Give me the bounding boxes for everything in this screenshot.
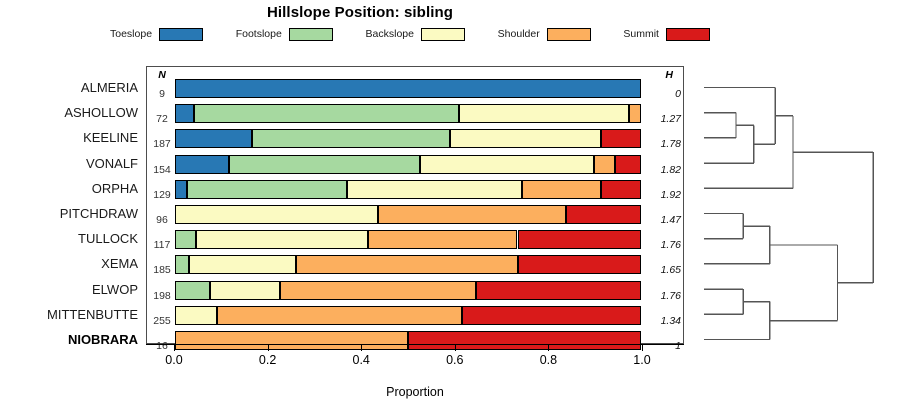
n-value: 96: [149, 214, 175, 226]
bar-segment-toeslope[interactable]: [175, 180, 187, 199]
category-label-keeline: KEELINE: [83, 131, 138, 145]
n-value: 154: [149, 164, 175, 176]
h-value: 1.82: [645, 164, 681, 176]
legend-item-label: Backslope: [366, 28, 414, 40]
bar-segment-toeslope[interactable]: [175, 104, 194, 123]
stacked-bar[interactable]: [175, 230, 641, 249]
stacked-bar[interactable]: [175, 79, 641, 98]
x-axis-tick-label: 0.4: [352, 353, 369, 367]
x-axis-tick-label: 1.0: [633, 353, 650, 367]
h-value: 1.78: [645, 138, 681, 150]
x-axis-tick: [455, 344, 456, 351]
bar-segment-footslope[interactable]: [229, 155, 420, 174]
dendrogram: [690, 60, 900, 350]
x-axis-line: [146, 344, 684, 345]
n-value: 72: [149, 113, 175, 125]
bar-segment-shoulder[interactable]: [217, 306, 462, 325]
bar-segment-footslope[interactable]: [175, 281, 210, 300]
n-value: 255: [149, 315, 175, 327]
bar-segment-toeslope[interactable]: [175, 129, 252, 148]
category-label-pitchdraw: PITCHDRAW: [60, 207, 138, 221]
h-value: 1.76: [645, 239, 681, 251]
x-axis: 0.00.20.40.60.81.0: [146, 344, 684, 378]
stacked-bar[interactable]: [175, 306, 641, 325]
bar-segment-backslope[interactable]: [175, 205, 378, 224]
bar-segment-backslope[interactable]: [347, 180, 522, 199]
stacked-bar[interactable]: [175, 155, 641, 174]
stacked-bar[interactable]: [175, 281, 641, 300]
x-axis-tick: [548, 344, 549, 351]
h-value: 1.65: [645, 264, 681, 276]
h-value: 1.47: [645, 214, 681, 226]
h-value: 0: [645, 88, 681, 100]
bar-segment-summit[interactable]: [518, 255, 641, 274]
bar-segment-summit[interactable]: [615, 155, 641, 174]
stacked-bar[interactable]: [175, 180, 641, 199]
h-column-header: H: [665, 69, 673, 81]
plot-panel: N H 90721.271871.781541.821291.92961.471…: [146, 66, 684, 344]
category-label-almeria: ALMERIA: [81, 81, 138, 95]
stacked-bar[interactable]: [175, 104, 641, 123]
h-value: 1.92: [645, 189, 681, 201]
x-axis-tick: [268, 344, 269, 351]
bar-segment-backslope[interactable]: [450, 129, 601, 148]
n-value: 117: [149, 239, 175, 251]
legend-item-label: Summit: [623, 28, 659, 40]
category-label-column: ALMERIAASHOLLOWKEELINEVONALFORPHAPITCHDR…: [0, 66, 142, 344]
dendrogram-svg: [690, 60, 900, 350]
x-axis-tick: [642, 344, 643, 351]
bar-segment-summit[interactable]: [518, 230, 641, 249]
stacked-bar[interactable]: [175, 255, 641, 274]
n-column-header: N: [149, 69, 175, 81]
legend-item-label: Footslope: [236, 28, 282, 40]
legend-swatch-icon: [159, 28, 203, 41]
category-label-elwop: ELWOP: [92, 283, 138, 297]
bar-segment-footslope[interactable]: [252, 129, 450, 148]
x-axis-tick-label: 0.6: [446, 353, 463, 367]
bar-segment-summit[interactable]: [476, 281, 641, 300]
bar-segment-toeslope[interactable]: [175, 79, 641, 98]
category-label-tullock: TULLOCK: [78, 232, 138, 246]
category-label-ashollow: ASHOLLOW: [64, 106, 138, 120]
bar-segment-summit[interactable]: [601, 180, 641, 199]
bar-segment-backslope[interactable]: [196, 230, 368, 249]
x-axis-tick: [174, 344, 175, 351]
legend-swatch-icon: [289, 28, 333, 41]
bar-segment-shoulder[interactable]: [594, 155, 615, 174]
h-value: 1.27: [645, 113, 681, 125]
h-value: 1.76: [645, 290, 681, 302]
x-axis-tick-label: 0.2: [259, 353, 276, 367]
bar-segment-backslope[interactable]: [189, 255, 296, 274]
legend-item-toeslope[interactable]: Toeslope: [110, 28, 203, 41]
n-value: 9: [149, 88, 175, 100]
n-value: 185: [149, 264, 175, 276]
legend-item-shoulder[interactable]: Shoulder: [498, 28, 591, 41]
legend-swatch-icon: [421, 28, 465, 41]
bar-segment-shoulder[interactable]: [368, 230, 517, 249]
category-label-vonalf: VONALF: [86, 157, 138, 171]
h-value: 1.34: [645, 315, 681, 327]
legend-item-label: Toeslope: [110, 28, 152, 40]
legend-item-backslope[interactable]: Backslope: [366, 28, 465, 41]
page-title: Hillslope Position: sibling: [0, 4, 720, 21]
legend: ToeslopeFootslopeBackslopeShoulderSummit: [110, 24, 710, 44]
category-label-xema: XEMA: [101, 257, 138, 271]
bar-segment-footslope[interactable]: [194, 104, 460, 123]
legend-swatch-icon: [666, 28, 710, 41]
x-axis-tick: [361, 344, 362, 351]
bar-segment-shoulder[interactable]: [378, 205, 567, 224]
category-label-mittenbutte: MITTENBUTTE: [47, 308, 138, 322]
bar-segment-backslope[interactable]: [459, 104, 629, 123]
bar-segment-backslope[interactable]: [210, 281, 280, 300]
n-value: 187: [149, 138, 175, 150]
legend-swatch-icon: [547, 28, 591, 41]
stacked-bar[interactable]: [175, 129, 641, 148]
n-value: 198: [149, 290, 175, 302]
bar-segment-backslope[interactable]: [175, 306, 217, 325]
stacked-bar[interactable]: [175, 205, 641, 224]
bar-segment-toeslope[interactable]: [175, 155, 229, 174]
n-value: 129: [149, 189, 175, 201]
x-axis-tick-label: 0.8: [540, 353, 557, 367]
bar-segment-shoulder[interactable]: [522, 180, 601, 199]
hillslope-position-chart: Hillslope Position: sibling ToeslopeFoot…: [0, 0, 900, 420]
bar-segment-shoulder[interactable]: [629, 104, 641, 123]
legend-item-summit[interactable]: Summit: [623, 28, 710, 41]
category-label-niobrara: NIOBRARA: [68, 333, 138, 347]
x-axis-tick-label: 0.0: [165, 353, 182, 367]
bar-segment-footslope[interactable]: [187, 180, 348, 199]
category-label-orpha: ORPHA: [92, 182, 138, 196]
legend-item-footslope[interactable]: Footslope: [236, 28, 333, 41]
bar-segment-footslope[interactable]: [175, 230, 196, 249]
bar-segment-shoulder[interactable]: [280, 281, 476, 300]
bar-segment-backslope[interactable]: [420, 155, 595, 174]
bar-segment-shoulder[interactable]: [296, 255, 517, 274]
bar-segment-summit[interactable]: [566, 205, 641, 224]
x-axis-title: Proportion: [146, 385, 684, 399]
bar-segment-summit[interactable]: [601, 129, 641, 148]
legend-item-label: Shoulder: [498, 28, 540, 40]
bar-segment-summit[interactable]: [462, 306, 641, 325]
bar-segment-footslope[interactable]: [175, 255, 189, 274]
